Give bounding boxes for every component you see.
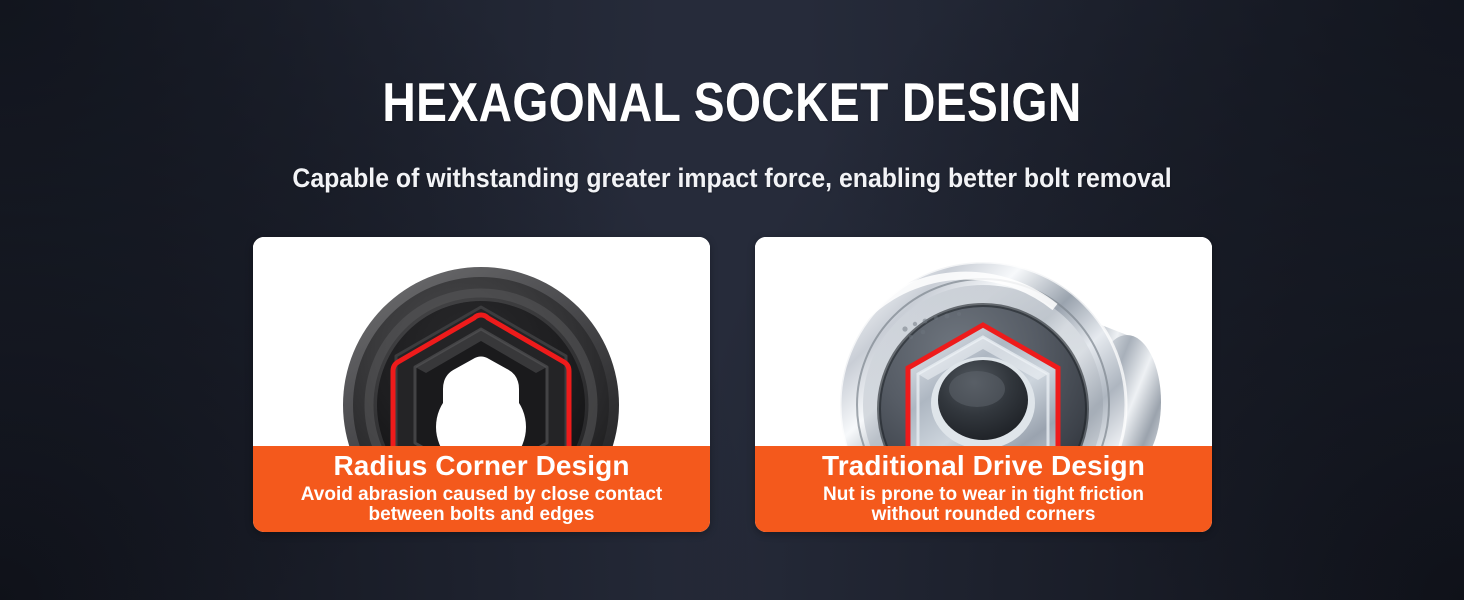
caption-line-2: without rounded corners [755,505,1212,525]
caption-band-traditional-drive: Traditional Drive Design Nut is prone to… [755,446,1212,532]
socket-photo-chrome [755,237,1212,446]
caption-description: Avoid abrasion caused by close contact b… [253,483,710,525]
caption-band-radius-corner: Radius Corner Design Avoid abrasion caus… [253,446,710,532]
caption-title: Radius Corner Design [253,449,710,483]
card-traditional-drive: Traditional Drive Design Nut is prone to… [755,237,1212,532]
page-title: HEXAGONAL SOCKET DESIGN [117,72,1347,132]
caption-line-1: Avoid abrasion caused by close contact [253,485,710,505]
caption-title: Traditional Drive Design [755,449,1212,483]
socket-photo-black [253,237,710,446]
black-socket-illustration [253,237,710,446]
hexagonal-socket-banner: HEXAGONAL SOCKET DESIGN Capable of withs… [0,0,1464,600]
caption-description: Nut is prone to wear in tight friction w… [755,483,1212,525]
caption-line-2: between bolts and edges [253,505,710,525]
caption-line-1: Nut is prone to wear in tight friction [755,485,1212,505]
card-radius-corner: Radius Corner Design Avoid abrasion caus… [253,237,710,532]
comparison-cards: Radius Corner Design Avoid abrasion caus… [253,237,1212,532]
chrome-socket-illustration [755,237,1212,446]
page-subtitle: Capable of withstanding greater impact f… [59,161,1406,195]
